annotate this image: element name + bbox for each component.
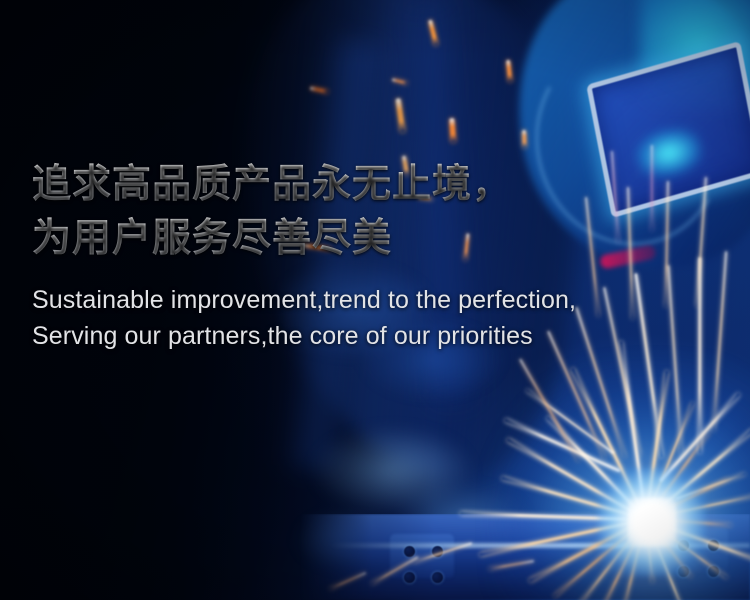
headline-line-1: 追求高品质产品永无止境，	[32, 160, 692, 210]
hero-banner: 追求高品质产品永无止境， 为用户服务尽善尽美 Sustainable impro…	[0, 0, 750, 600]
headline-line-2: 为用户服务尽善尽美	[32, 214, 692, 264]
bolt-plate	[390, 534, 454, 578]
bolt-hole	[404, 572, 415, 583]
subhead-line-2: Serving our partners,the core of our pri…	[32, 318, 692, 354]
banner-copy: 追求高品质产品永无止境， 为用户服务尽善尽美 Sustainable impro…	[32, 160, 692, 354]
weld-arc-hotspot	[628, 498, 676, 546]
bolt-hole	[432, 572, 443, 583]
spark-streak	[522, 130, 527, 148]
subhead-line-1: Sustainable improvement,trend to the per…	[32, 282, 692, 318]
bolt-hole	[404, 546, 415, 557]
